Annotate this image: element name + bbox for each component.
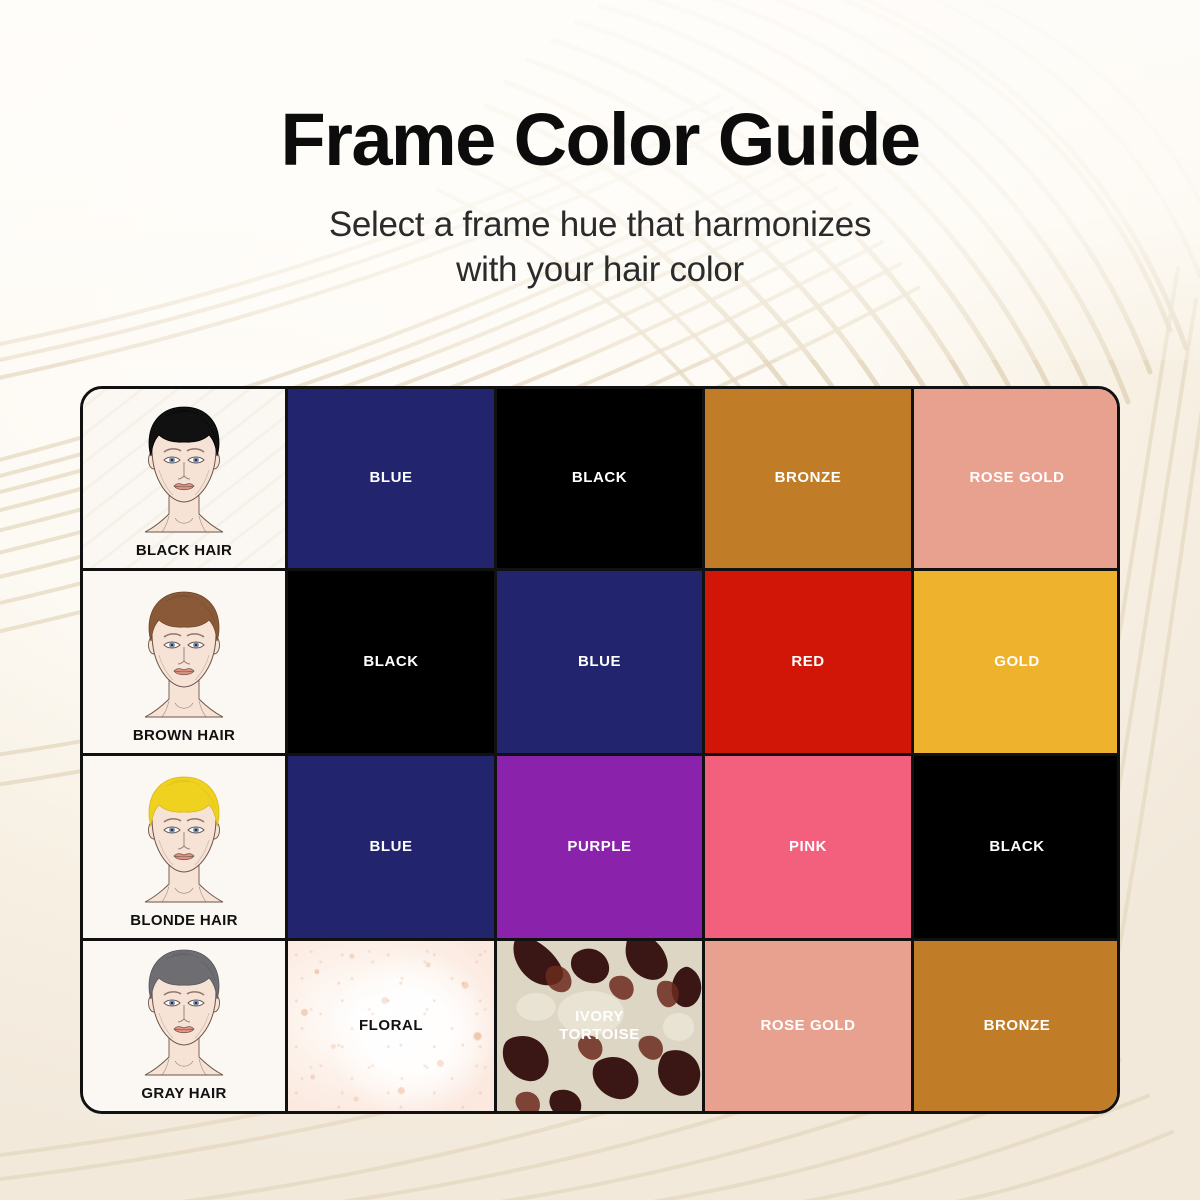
- swatch-label: BLACK: [989, 838, 1044, 856]
- swatch-label: ROSE GOLD: [970, 469, 1065, 487]
- color-swatch-blue[interactable]: BLUE: [497, 571, 705, 756]
- color-swatch-red[interactable]: RED: [705, 571, 914, 756]
- face-illustration-icon: [109, 768, 259, 910]
- swatch-label: BLUE: [369, 469, 412, 487]
- color-swatch-floral[interactable]: FLORAL: [288, 941, 497, 1111]
- hair-cell-gray-hair: GRAY HAIR: [83, 941, 288, 1111]
- color-guide-table: BLACK HAIRBLUEBLACKBRONZEROSE GOLD: [80, 386, 1120, 1114]
- color-swatch-gold[interactable]: GOLD: [914, 571, 1120, 756]
- swatch-label: GOLD: [994, 653, 1040, 671]
- face-illustration-icon: [109, 398, 259, 540]
- swatch-label: BLUE: [578, 653, 621, 671]
- hair-cell-blonde-hair: BLONDE HAIR: [83, 756, 288, 941]
- color-swatch-bronze[interactable]: BRONZE: [705, 389, 914, 571]
- hair-cell-black-hair: BLACK HAIR: [83, 389, 288, 571]
- swatch-label: BLACK: [572, 469, 627, 487]
- swatch-label: IVORY TORTOISE: [559, 1008, 640, 1045]
- color-swatch-rose-gold[interactable]: ROSE GOLD: [914, 389, 1120, 571]
- color-swatch-blue[interactable]: BLUE: [288, 389, 497, 571]
- color-swatch-black[interactable]: BLACK: [497, 389, 705, 571]
- color-swatch-black[interactable]: BLACK: [914, 756, 1120, 941]
- page-subtitle: Select a frame hue that harmonizes with …: [0, 177, 1200, 293]
- header: Frame Color Guide Select a frame hue tha…: [0, 0, 1200, 293]
- swatch-label: FLORAL: [359, 1017, 423, 1035]
- hair-cell-brown-hair: BROWN HAIR: [83, 571, 288, 756]
- swatch-label: PINK: [789, 838, 827, 856]
- swatch-label: RED: [791, 653, 824, 671]
- swatch-label: PURPLE: [567, 838, 631, 856]
- face-illustration-icon: [109, 941, 259, 1083]
- color-swatch-bronze[interactable]: BRONZE: [914, 941, 1120, 1111]
- color-swatch-pink[interactable]: PINK: [705, 756, 914, 941]
- color-guide-grid: BLACK HAIRBLUEBLACKBRONZEROSE GOLD: [83, 389, 1117, 1111]
- swatch-label: BRONZE: [775, 469, 842, 487]
- hair-type-label: BLONDE HAIR: [130, 912, 237, 929]
- subtitle-line-2: with your hair color: [0, 248, 1200, 293]
- swatch-label: ROSE GOLD: [761, 1017, 856, 1035]
- swatch-label: BLACK: [363, 653, 418, 671]
- frame-color-guide-page: Frame Color Guide Select a frame hue tha…: [0, 0, 1200, 1200]
- page-title: Frame Color Guide: [0, 0, 1200, 177]
- swatch-label: BRONZE: [984, 1017, 1051, 1035]
- hair-type-label: GRAY HAIR: [141, 1085, 226, 1102]
- color-swatch-purple[interactable]: PURPLE: [497, 756, 705, 941]
- hair-type-label: BLACK HAIR: [136, 542, 232, 559]
- subtitle-line-1: Select a frame hue that harmonizes: [0, 203, 1200, 248]
- color-swatch-rose-gold[interactable]: ROSE GOLD: [705, 941, 914, 1111]
- color-swatch-black[interactable]: BLACK: [288, 571, 497, 756]
- face-illustration-icon: [109, 583, 259, 725]
- swatch-label: BLUE: [369, 838, 412, 856]
- color-swatch-blue[interactable]: BLUE: [288, 756, 497, 941]
- color-swatch-ivory-tortoise[interactable]: IVORY TORTOISE: [497, 941, 705, 1111]
- hair-type-label: BROWN HAIR: [133, 727, 235, 744]
